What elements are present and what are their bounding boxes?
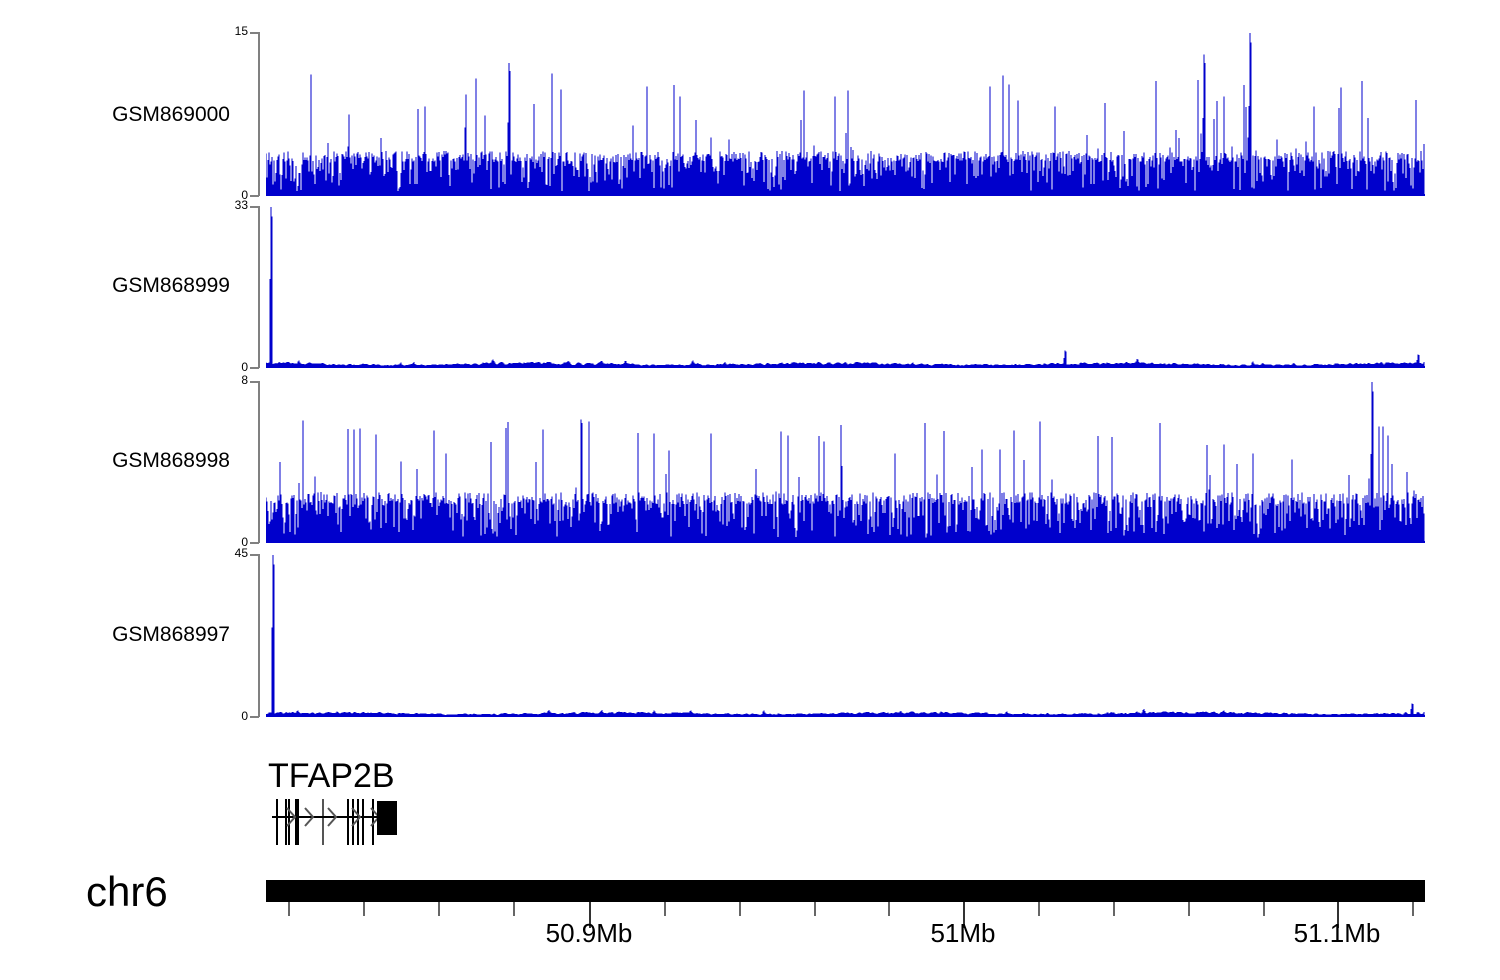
ruler-coordinate-label: 51Mb [930, 918, 995, 949]
y-axis-min-tick [250, 367, 259, 369]
y-axis-max-label: 45 [206, 546, 248, 560]
gene-exon-marker [276, 799, 278, 845]
ruler-minor-tick [1113, 902, 1115, 916]
y-axis-min-label: 0 [206, 360, 248, 374]
chromosome-label: chr6 [86, 868, 168, 916]
genome-browser: GSM869000150GSM868999330GSM86899880GSM86… [0, 0, 1500, 980]
gene-exon-marker [322, 799, 324, 845]
y-axis-max-tick [250, 554, 259, 556]
track-label-gsm868998: GSM868998 [112, 449, 230, 473]
gene-terminal-exon [377, 801, 397, 835]
ruler-coordinate-label: 51.1Mb [1294, 918, 1381, 949]
y-axis-max-tick [250, 381, 259, 383]
gene-intron-line [272, 816, 393, 818]
y-axis-max-tick [250, 206, 259, 208]
y-axis-min-tick [250, 542, 259, 544]
y-axis-max-label: 15 [206, 24, 248, 38]
coverage-plot [266, 206, 1425, 368]
ruler-minor-tick [438, 902, 440, 916]
y-axis-line [258, 32, 260, 196]
coverage-plot [266, 554, 1425, 717]
ruler-coordinate-label: 50.9Mb [546, 918, 633, 949]
gene-exon-marker [357, 799, 359, 845]
ruler-minor-tick [814, 902, 816, 916]
track-label-gsm868997: GSM868997 [112, 623, 230, 647]
y-axis-min-label: 0 [206, 709, 248, 723]
ruler-minor-tick [1188, 902, 1190, 916]
gene-exon-marker [362, 799, 364, 845]
gene-exon-marker [297, 799, 299, 845]
ruler-minor-tick [1263, 902, 1265, 916]
coverage-plot [266, 32, 1425, 196]
y-axis-min-tick [250, 716, 259, 718]
ruler-minor-tick [739, 902, 741, 916]
gene-exon-marker [347, 799, 349, 845]
ruler-minor-tick [288, 902, 290, 916]
ruler-minor-tick [1412, 902, 1414, 916]
track-label-gsm869000: GSM869000 [112, 103, 230, 127]
ruler-minor-tick [888, 902, 890, 916]
track-label-gsm868999: GSM868999 [112, 274, 230, 298]
y-axis-max-label: 33 [206, 198, 248, 212]
ruler-minor-tick [664, 902, 666, 916]
y-axis-max-label: 8 [206, 373, 248, 387]
ruler-minor-tick [363, 902, 365, 916]
gene-annotation-track[interactable] [0, 755, 1500, 870]
chromosome-bar[interactable] [266, 880, 1425, 902]
coverage-plot [266, 381, 1425, 543]
gene-exon-marker [295, 799, 297, 845]
y-axis-max-tick [250, 32, 259, 34]
y-axis-line [258, 554, 260, 717]
ruler-minor-tick [1038, 902, 1040, 916]
y-axis-line [258, 206, 260, 368]
gene-exon-marker [352, 799, 354, 845]
y-axis-min-tick [250, 195, 259, 197]
y-axis-line [258, 381, 260, 543]
gene-exon-marker [285, 799, 287, 845]
ruler-minor-tick [513, 902, 515, 916]
gene-model-graphic [0, 755, 1500, 870]
